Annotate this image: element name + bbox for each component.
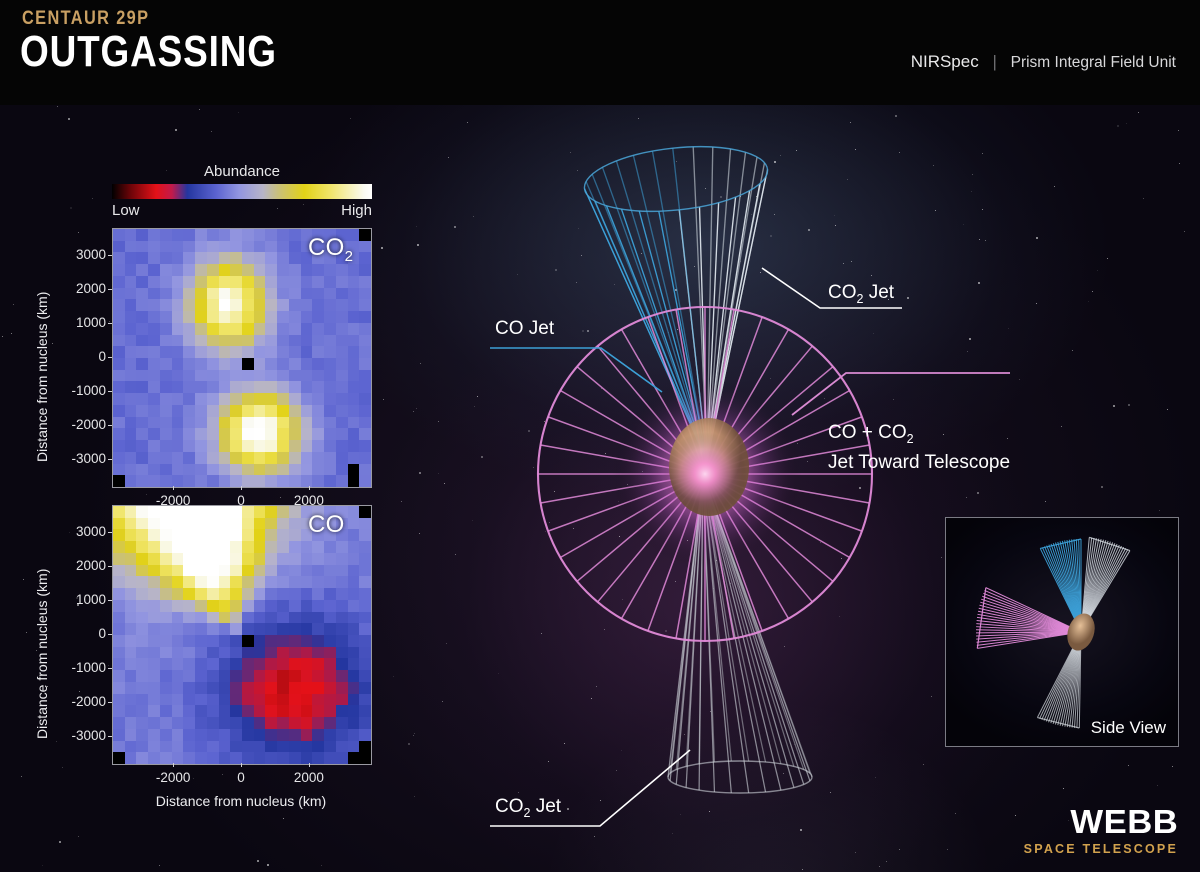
side-view-label: Side View — [1091, 718, 1166, 738]
side-view-inset: Side View — [945, 517, 1179, 747]
callout-co2-jet-bottom-text: CO2 Jet — [495, 796, 561, 817]
instrument-separator: | — [992, 52, 996, 71]
callout-co2-jet-bottom: CO2 Jet — [495, 795, 561, 825]
webb-logo-main: WEBB — [1016, 803, 1178, 841]
instrument-mode: Prism Integral Field Unit — [1011, 54, 1176, 71]
jet-geometry-diagram: CO Jet CO2 Jet CO + CO2 Jet Toward Teles… — [0, 105, 1200, 872]
webb-logo: WEBB SPACE TELESCOPE — [1024, 803, 1178, 856]
inset-nucleus — [1063, 610, 1099, 654]
page-title: OUTGASSING — [20, 29, 277, 75]
webb-logo-sub: SPACE TELESCOPE — [1024, 842, 1178, 856]
callout-co2-jet-top-text: CO2 Jet — [828, 282, 894, 303]
side-view-svg — [946, 518, 1178, 746]
leader-line-forward-jet — [792, 373, 1010, 415]
jet-diagram-svg — [0, 105, 1200, 872]
header-bar: CENTAUR 29P OUTGASSING NIRSpec | Prism I… — [0, 0, 1200, 105]
nucleus-core-glow — [663, 432, 747, 516]
instrument-label: NIRSpec | Prism Integral Field Unit — [911, 52, 1176, 72]
callout-forward-jet-line1: CO + CO2 — [828, 421, 1010, 451]
callout-co-jet: CO Jet — [495, 317, 554, 340]
instrument-name: NIRSpec — [911, 52, 979, 71]
callout-co2-jet-top: CO2 Jet — [828, 281, 894, 311]
callout-forward-jet-line2: Jet Toward Telescope — [828, 451, 1010, 474]
callout-forward-jet: CO + CO2 Jet Toward Telescope — [828, 421, 1010, 474]
